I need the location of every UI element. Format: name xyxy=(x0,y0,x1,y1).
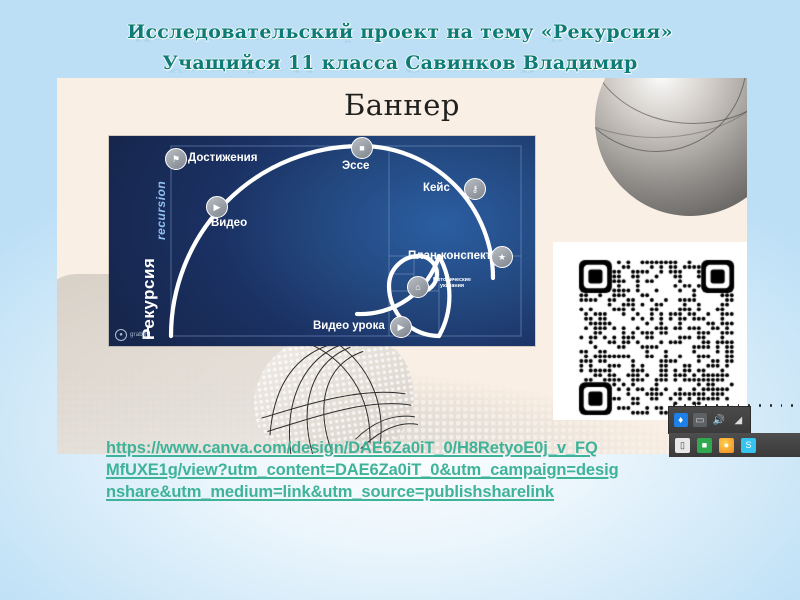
play-icon: ▶ xyxy=(398,323,405,332)
bookmark-icon: ⚑ xyxy=(172,155,180,164)
link-line-2[interactable]: MfUXE1g/view?utm_content=DAE6Za0iT_0&utm… xyxy=(106,459,726,481)
qr-code-card[interactable] xyxy=(553,242,747,420)
home-icon: ⌂ xyxy=(415,283,420,292)
logo-mark-icon: ● xyxy=(115,329,127,341)
node-plan-konspekt[interactable]: ★ xyxy=(491,246,513,268)
label-video: Видео xyxy=(211,217,247,229)
node-keys[interactable]: ⚷ xyxy=(464,178,486,200)
label-dostizheniya: Достижения xyxy=(188,152,257,164)
play-icon: ▶ xyxy=(214,203,221,212)
display-icon[interactable]: ▭ xyxy=(693,413,707,427)
label-video-uroka: Видео урока xyxy=(313,320,385,332)
banner-image[interactable]: recursion Рекурсия ⚑ Достижения ▶ Видео … xyxy=(109,136,535,346)
node-bookmark[interactable]: ⚑ xyxy=(165,148,187,170)
label-keys: Кейс xyxy=(423,182,450,194)
stop-icon: ■ xyxy=(359,144,364,153)
label-metodicheskie-ukazaniya: Методические указания xyxy=(429,277,475,290)
link-line-1[interactable]: https://www.canva.com/design/DAE6Za0iT_0… xyxy=(106,437,726,459)
title-line-1-reflection: Исследовательский проект на тему «Рекурс… xyxy=(0,33,800,44)
banner-logo: ● grabfly xyxy=(115,329,149,341)
title-line-2-reflection: Учащийся 11 класса Савинков Владимир xyxy=(0,64,800,75)
star-icon: ★ xyxy=(498,253,506,262)
node-metodicheskie[interactable]: ⌂ xyxy=(407,276,429,298)
slide-card: Баннер recursion Рек xyxy=(57,78,747,454)
label-esse: Эссе xyxy=(342,160,369,172)
node-video[interactable]: ▶ xyxy=(206,196,228,218)
slide-heading: Баннер xyxy=(57,88,747,122)
key-icon: ⚷ xyxy=(472,185,479,194)
node-esse[interactable]: ■ xyxy=(351,137,373,159)
network-icon[interactable]: ◢ xyxy=(731,413,745,427)
node-video-uroka[interactable]: ▶ xyxy=(390,316,412,338)
skype-icon[interactable]: S xyxy=(741,438,756,453)
canva-link[interactable]: https://www.canva.com/design/DAE6Za0iT_0… xyxy=(106,437,726,503)
banner-vertical-label-en: recursion xyxy=(154,181,168,240)
logo-text: grabfly xyxy=(130,332,149,338)
bluetooth-icon[interactable]: ♦ xyxy=(674,413,688,427)
link-line-3[interactable]: nshare&utm_medium=link&utm_source=publis… xyxy=(106,481,726,503)
slide-page: Исследовательский проект на тему «Рекурс… xyxy=(0,0,800,600)
volume-warning-icon[interactable]: 🔊 xyxy=(712,413,726,427)
label-plan-konspekt: План-конспект xyxy=(408,250,491,262)
qr-code[interactable] xyxy=(553,242,747,420)
banner-vertical-label-ru: Рекурсия xyxy=(139,258,159,340)
system-tray[interactable]: ♦ ▭ 🔊 ◢ xyxy=(669,407,750,433)
